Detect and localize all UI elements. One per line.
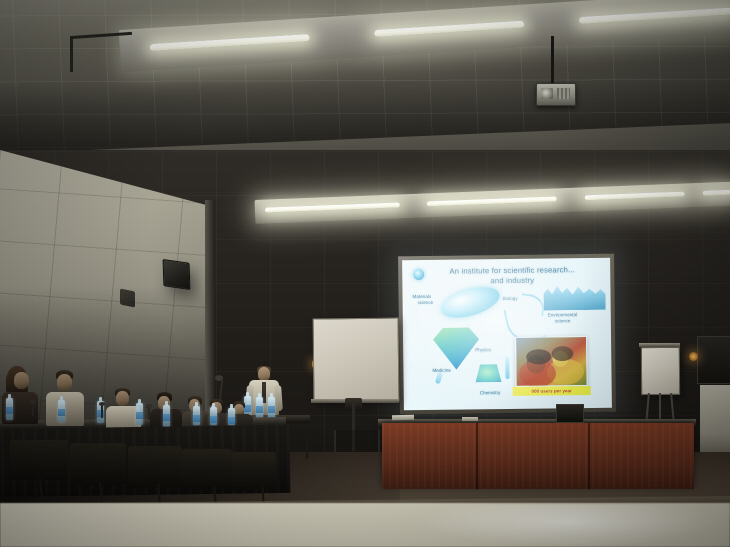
wall-panel-upper-right <box>697 336 730 384</box>
stage-desk <box>382 423 694 489</box>
panelist-torso <box>46 392 84 426</box>
foreground-highlight <box>420 505 720 547</box>
stage-desk-seam <box>476 423 478 489</box>
bottle-label <box>136 412 143 419</box>
slide-label-chemistry: Chemistry <box>480 390 501 396</box>
table-microphone <box>32 403 34 416</box>
wafer-disc-graphic <box>438 281 503 323</box>
presenter-head <box>258 367 270 381</box>
projector-vent <box>557 88 570 99</box>
dna-squiggle-graphic-2 <box>519 293 545 316</box>
projection-screen[interactable]: An institute for scientific research... … <box>398 254 616 415</box>
wall-speaker <box>163 259 191 290</box>
bottle-label <box>193 415 200 422</box>
stage-desk-seam <box>588 423 590 489</box>
bottle-label <box>58 409 65 416</box>
bottle-label <box>268 406 275 413</box>
fluorescent-tube <box>374 21 524 37</box>
light-hanger-rod <box>70 36 73 72</box>
slide-label-environment-2: science <box>555 318 571 324</box>
fluorescent-tube <box>265 202 400 212</box>
chair <box>70 443 126 485</box>
bottle-label <box>163 414 170 421</box>
chair <box>128 446 182 488</box>
chair <box>182 449 232 489</box>
panelist-head <box>116 391 129 406</box>
water-bottle <box>268 397 275 419</box>
institute-logo-icon <box>413 269 424 280</box>
bottle-label <box>210 416 217 423</box>
water-bottle <box>136 403 143 425</box>
projector-mount-rod <box>551 36 554 88</box>
microphone-head <box>215 375 223 381</box>
water-bottle <box>193 406 200 425</box>
wall-speaker-secondary <box>120 288 135 307</box>
wall-lamp-icon <box>689 352 698 361</box>
presenter-arm-right <box>274 385 283 411</box>
test-tube-graphic <box>505 357 509 379</box>
presentation-slide: An institute for scientific research... … <box>402 258 612 411</box>
water-bottle <box>210 407 217 425</box>
slide-title: An institute for scientific research... … <box>428 265 596 287</box>
water-bottle <box>163 405 170 427</box>
flask-graphic <box>475 364 501 382</box>
water-bottle <box>228 408 235 425</box>
stage-desk-texture <box>382 423 694 489</box>
water-bottle <box>58 400 65 422</box>
bottle-label <box>244 405 251 412</box>
fluorescent-tube <box>703 190 730 196</box>
diamond-graphic <box>433 327 480 370</box>
city-skyline-graphic <box>543 282 605 311</box>
lab-photo <box>515 336 588 387</box>
slide-title-line-2: and industry <box>428 275 596 287</box>
bottle-label <box>6 407 13 414</box>
slide-highlight-banner: 000 users per year <box>513 386 591 396</box>
desk-monitor <box>556 404 584 423</box>
water-bottle <box>256 397 263 419</box>
panelist-head <box>14 372 29 389</box>
fluorescent-tube <box>427 196 557 206</box>
slide-label-materials-2: science <box>418 300 434 306</box>
fluorescent-tube <box>585 191 685 200</box>
panelist-head <box>57 374 72 391</box>
chair <box>232 452 276 490</box>
desk-papers-2 <box>462 417 478 421</box>
table-microphone <box>148 407 150 420</box>
desk-papers <box>392 415 414 420</box>
chair <box>10 440 68 480</box>
slide-label-physics: Physics <box>475 347 491 353</box>
lab-photo-subjects <box>516 337 587 386</box>
projector-lens <box>541 88 553 99</box>
slide-label-medicine: Medicine <box>432 368 450 374</box>
water-bottle <box>6 398 13 420</box>
bottle-label <box>228 417 235 424</box>
conference-hall-photo: An institute for scientific research... … <box>0 0 730 547</box>
whiteboard[interactable] <box>313 318 400 403</box>
wall-panel-lower-right <box>700 385 730 455</box>
fluorescent-tube <box>150 34 310 51</box>
fluorescent-tube <box>579 7 730 24</box>
slide-label-biology: Biology <box>503 296 518 302</box>
bottle-label <box>256 406 263 413</box>
table-microphone <box>101 405 103 418</box>
flipchart-easel[interactable] <box>641 347 680 395</box>
slide-banner-text: 000 users per year <box>531 388 571 393</box>
